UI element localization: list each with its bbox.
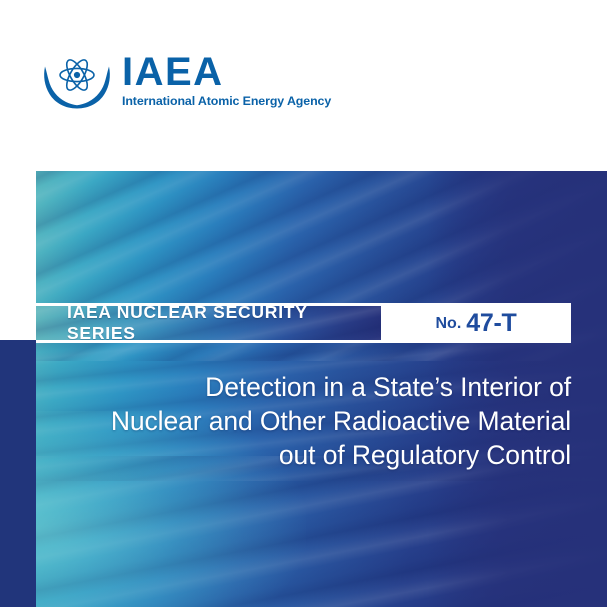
series-label-box: IAEA NUCLEAR SECURITY SERIES bbox=[36, 306, 381, 340]
iaea-full-name: International Atomic Energy Agency bbox=[122, 95, 331, 109]
series-label: IAEA NUCLEAR SECURITY SERIES bbox=[36, 306, 381, 340]
iaea-atom-laurel-logo-icon bbox=[38, 51, 116, 111]
series-number-value: 47-T bbox=[466, 309, 516, 338]
page-title-line-3: out of Regulatory Control bbox=[51, 438, 571, 472]
artwork-rays-bottom bbox=[36, 456, 607, 607]
iaea-acronym: IAEA bbox=[122, 53, 331, 92]
page-title-line-2: Nuclear and Other Radioactive Material bbox=[51, 404, 571, 438]
series-number-prefix: No. bbox=[436, 315, 462, 333]
iaea-logo: IAEA International Atomic Energy Agency bbox=[38, 50, 331, 112]
page-title: Detection in a State’s Interior of Nucle… bbox=[51, 370, 571, 473]
series-number-box: No. 47-T bbox=[381, 306, 571, 340]
page-title-line-1: Detection in a State’s Interior of bbox=[51, 370, 571, 404]
iaea-logo-wordmark: IAEA International Atomic Energy Agency bbox=[122, 53, 331, 109]
left-navy-strip bbox=[0, 340, 36, 607]
series-banner: IAEA NUCLEAR SECURITY SERIES No. 47-T bbox=[36, 303, 571, 343]
document-cover: IAEA International Atomic Energy Agency … bbox=[0, 0, 607, 607]
